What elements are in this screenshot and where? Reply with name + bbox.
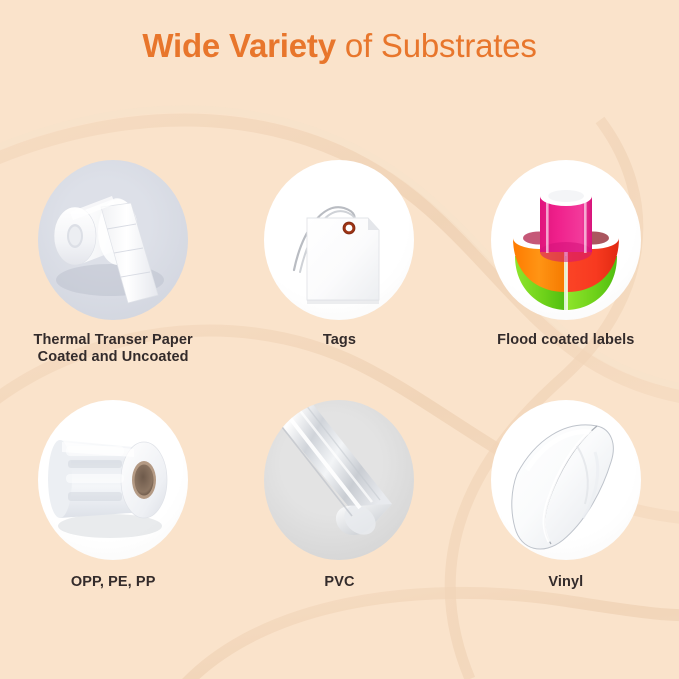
substrate-caption: PVC: [324, 574, 354, 591]
caption-line-1: Flood coated labels: [497, 332, 634, 348]
hang-tag-photo: [264, 160, 414, 320]
clear-vinyl-sheet-photo: [491, 400, 641, 560]
substrate-caption: Vinyl: [548, 574, 583, 591]
substrate-item-opp-pe-pp[interactable]: OPP, PE, PP: [13, 400, 213, 591]
colored-label-rolls-photo: [491, 160, 641, 320]
label-roll-photo: [38, 160, 188, 320]
caption-line-1: Thermal Transer Paper: [34, 332, 193, 348]
caption-line-2: Coated and Uncoated: [34, 349, 193, 366]
substrate-item-flood-coated-labels[interactable]: Flood coated labels: [466, 160, 666, 349]
substrate-item-pvc[interactable]: PVC: [239, 400, 439, 591]
substrate-item-vinyl[interactable]: Vinyl: [466, 400, 666, 591]
caption-line-1: Tags: [323, 332, 356, 348]
substrate-caption: Tags: [323, 332, 356, 349]
substrate-caption: OPP, PE, PP: [71, 574, 156, 591]
substrate-item-thermal-transfer-paper[interactable]: Thermal Transer Paper Coated and Uncoate…: [13, 160, 213, 366]
substrate-row-2: OPP, PE, PP: [0, 400, 679, 591]
clear-pvc-sheet-photo: [264, 400, 414, 560]
page-title-light: of Substrates: [336, 27, 537, 64]
substrates-infographic: Wide Variety of Substrates: [0, 0, 679, 679]
page-title-strong: Wide Variety: [142, 27, 336, 64]
caption-line-1: PVC: [324, 574, 354, 590]
page-title: Wide Variety of Substrates: [0, 24, 679, 68]
caption-line-1: Vinyl: [548, 574, 583, 590]
substrate-caption: Flood coated labels: [497, 332, 634, 349]
substrate-item-tags[interactable]: Tags: [239, 160, 439, 349]
caption-line-1: OPP, PE, PP: [71, 574, 156, 590]
substrate-row-1: Thermal Transer Paper Coated and Uncoate…: [0, 160, 679, 366]
substrate-caption: Thermal Transer Paper Coated and Uncoate…: [34, 332, 193, 366]
plastic-film-roll-photo: [38, 400, 188, 560]
